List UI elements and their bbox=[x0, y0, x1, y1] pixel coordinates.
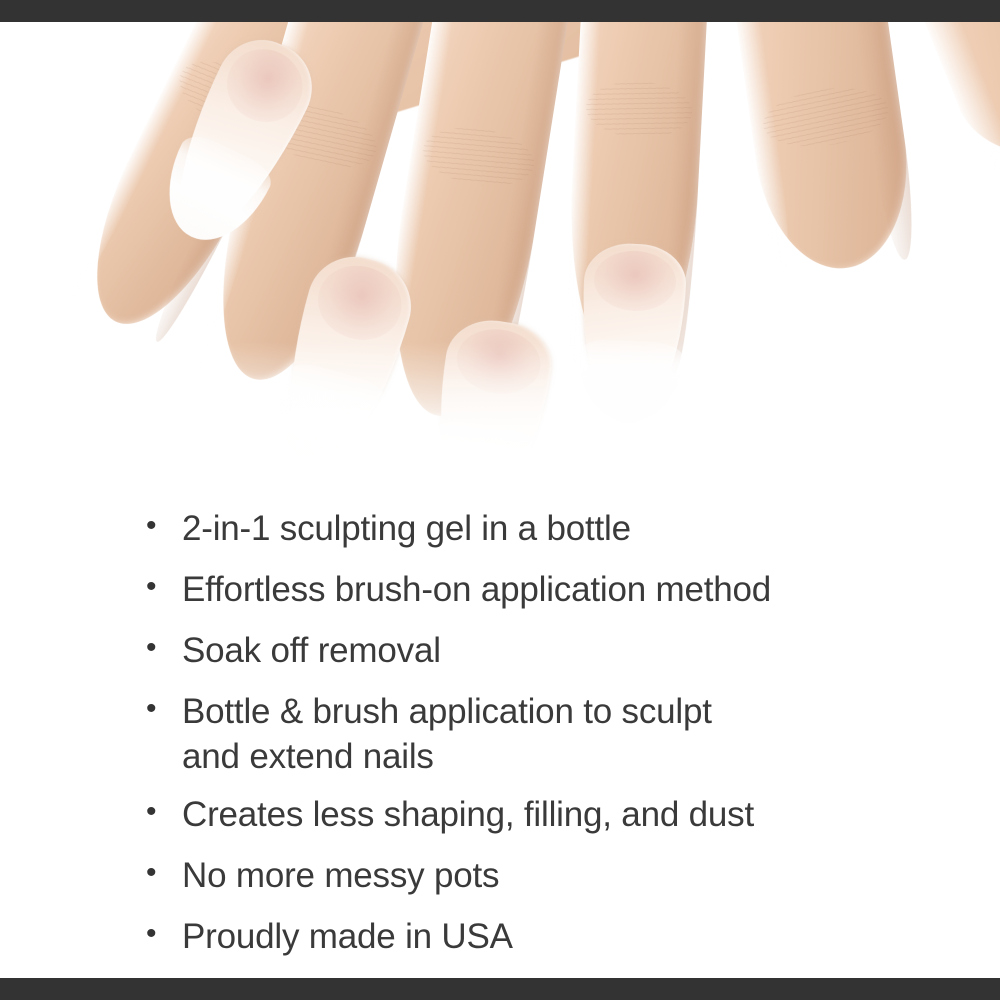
bullet-glyph: • bbox=[140, 498, 182, 554]
list-item: • 2-in-1 sculpting gel in a bottle bbox=[0, 498, 1000, 554]
list-item: • Effortless brush-on application method bbox=[0, 559, 1000, 615]
bullet-glyph: • bbox=[140, 620, 182, 676]
finger-thumb-rear bbox=[713, 22, 921, 278]
feature-text: Creates less shaping, filling, and dust bbox=[182, 784, 882, 837]
hand-photo bbox=[0, 22, 1000, 492]
feature-text: Proudly made in USA bbox=[182, 906, 882, 959]
photo-fade bbox=[0, 342, 1000, 492]
feature-text: 2-in-1 sculpting gel in a bottle bbox=[182, 498, 882, 551]
list-item: • Proudly made in USA bbox=[0, 906, 1000, 962]
feature-text: Soak off removal bbox=[182, 620, 882, 673]
list-item: • No more messy pots bbox=[0, 845, 1000, 901]
bullet-glyph: • bbox=[140, 845, 182, 901]
product-feature-card: • 2-in-1 sculpting gel in a bottle • Eff… bbox=[0, 0, 1000, 1000]
feature-bullet-list: • 2-in-1 sculpting gel in a bottle • Eff… bbox=[0, 498, 1000, 967]
bullet-glyph: • bbox=[140, 681, 182, 737]
feature-text: No more messy pots bbox=[182, 845, 882, 898]
bullet-glyph: • bbox=[140, 906, 182, 962]
feature-text: Effortless brush-on application method bbox=[182, 559, 882, 612]
list-item: • Soak off removal bbox=[0, 620, 1000, 676]
list-item: • Bottle & brush application to sculpt a… bbox=[0, 681, 1000, 779]
bullet-glyph: • bbox=[140, 559, 182, 615]
list-item: • Creates less shaping, filling, and dus… bbox=[0, 784, 1000, 840]
bullet-glyph: • bbox=[140, 784, 182, 840]
feature-text: Bottle & brush application to sculpt and… bbox=[182, 681, 882, 779]
top-letterbox-bar bbox=[0, 0, 1000, 22]
bottom-letterbox-bar bbox=[0, 978, 1000, 1000]
